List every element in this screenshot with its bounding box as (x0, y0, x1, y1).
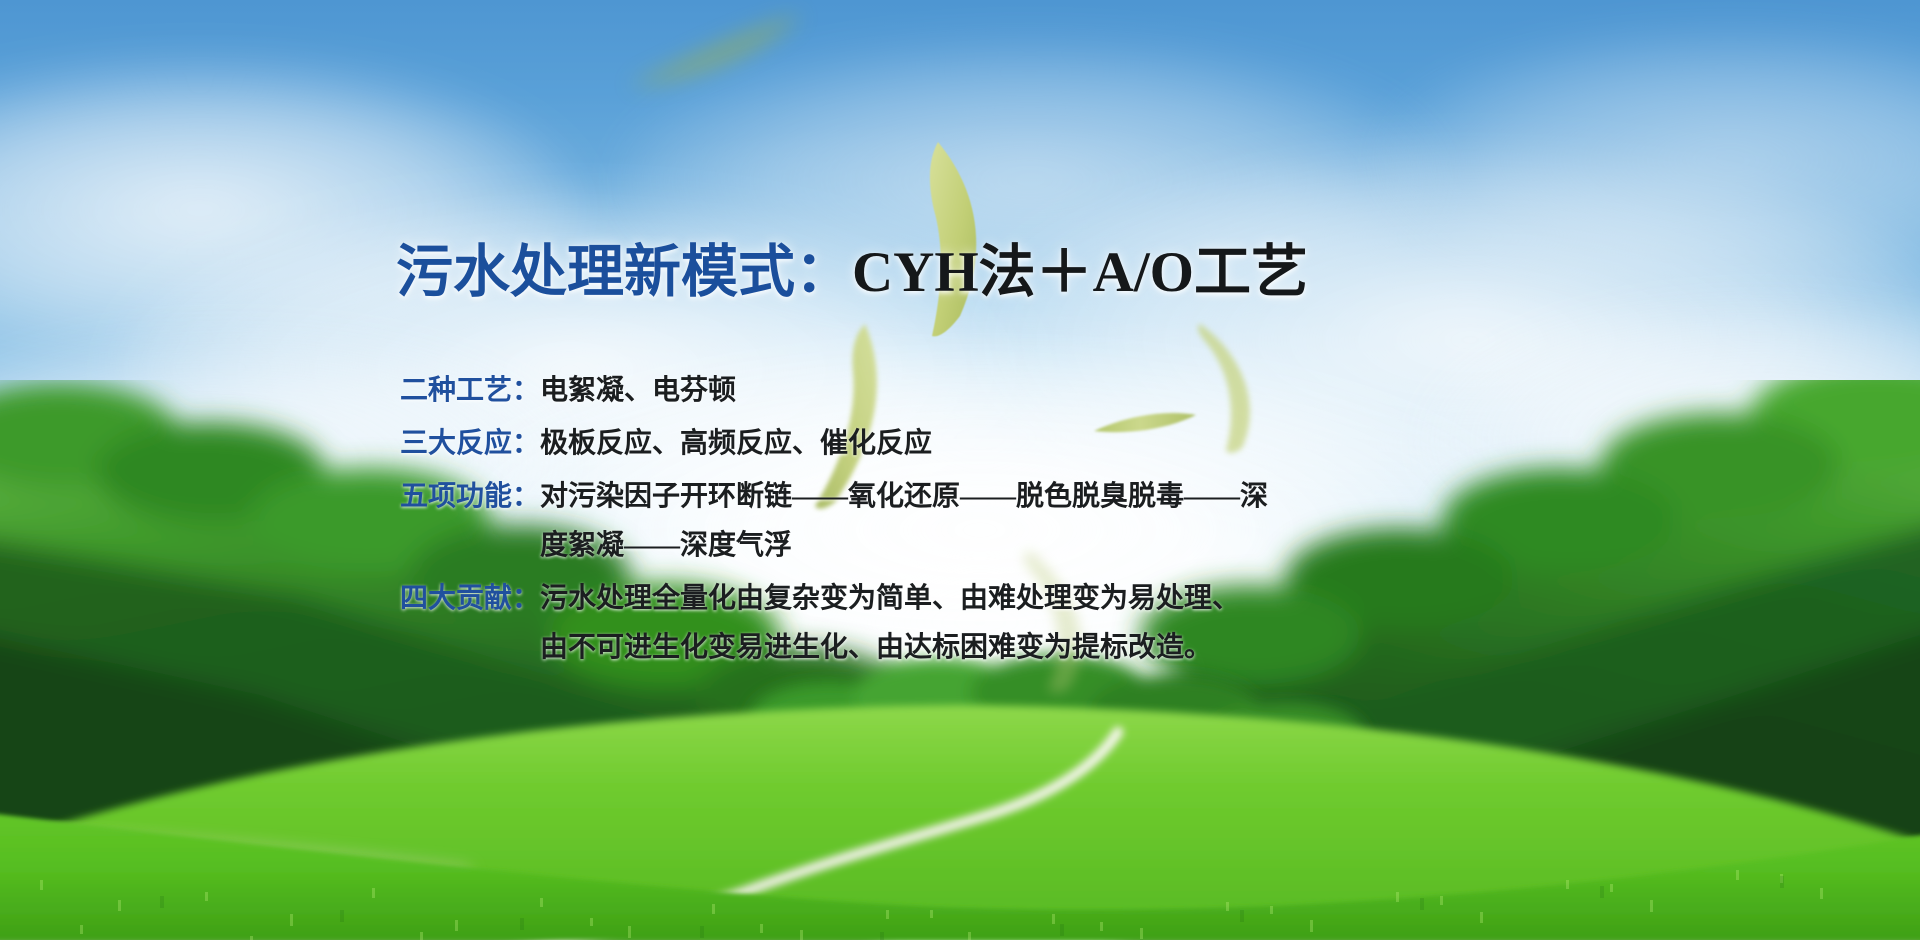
bullet-line: 由不可进生化变易进生化、由达标困难变为提标改造。 (540, 623, 1520, 672)
bullet-label: 三大反应： (400, 419, 540, 468)
bullet-value: 污水处理全量化由复杂变为简单、由难处理变为易处理、 由不可进生化变易进生化、由达… (540, 574, 1520, 672)
bullet-value: 电絮凝、电芬顿 (540, 366, 1520, 415)
slide-content: 污水处理新模式：CYH法＋A/O工艺 二种工艺： 电絮凝、电芬顿 三大反应： 极… (0, 0, 1920, 940)
bullet-row: 五项功能： 对污染因子开环断链——氧化还原——脱色脱臭脱毒——深 度絮凝——深度… (400, 472, 1520, 570)
bullet-line: 对污染因子开环断链——氧化还原——脱色脱臭脱毒——深 (540, 472, 1520, 521)
bullet-value: 对污染因子开环断链——氧化还原——脱色脱臭脱毒——深 度絮凝——深度气浮 (540, 472, 1520, 570)
bullet-label: 二种工艺： (400, 366, 540, 415)
slide-canvas: 污水处理新模式：CYH法＋A/O工艺 二种工艺： 电絮凝、电芬顿 三大反应： 极… (0, 0, 1920, 940)
bullet-line: 度絮凝——深度气浮 (540, 521, 1520, 570)
bullet-label: 五项功能： (400, 472, 540, 521)
bullet-line: 电絮凝、电芬顿 (540, 366, 1520, 415)
bullet-line: 极板反应、高频反应、催化反应 (540, 419, 1520, 468)
bullet-row: 四大贡献： 污水处理全量化由复杂变为简单、由难处理变为易处理、 由不可进生化变易… (400, 574, 1520, 672)
bullet-line: 污水处理全量化由复杂变为简单、由难处理变为易处理、 (540, 574, 1520, 623)
bullet-list: 二种工艺： 电絮凝、电芬顿 三大反应： 极板反应、高频反应、催化反应 五项功能：… (400, 366, 1520, 676)
title-rest: CYH法＋A/O工艺 (852, 241, 1308, 304)
bullet-label: 四大贡献： (400, 574, 540, 623)
slide-title: 污水处理新模式：CYH法＋A/O工艺 (396, 243, 1308, 303)
title-colon: ： (795, 241, 852, 304)
bullet-value: 极板反应、高频反应、催化反应 (540, 419, 1520, 468)
bullet-row: 二种工艺： 电絮凝、电芬顿 (400, 366, 1520, 415)
bullet-row: 三大反应： 极板反应、高频反应、催化反应 (400, 419, 1520, 468)
title-highlight: 污水处理新模式 (396, 241, 795, 304)
